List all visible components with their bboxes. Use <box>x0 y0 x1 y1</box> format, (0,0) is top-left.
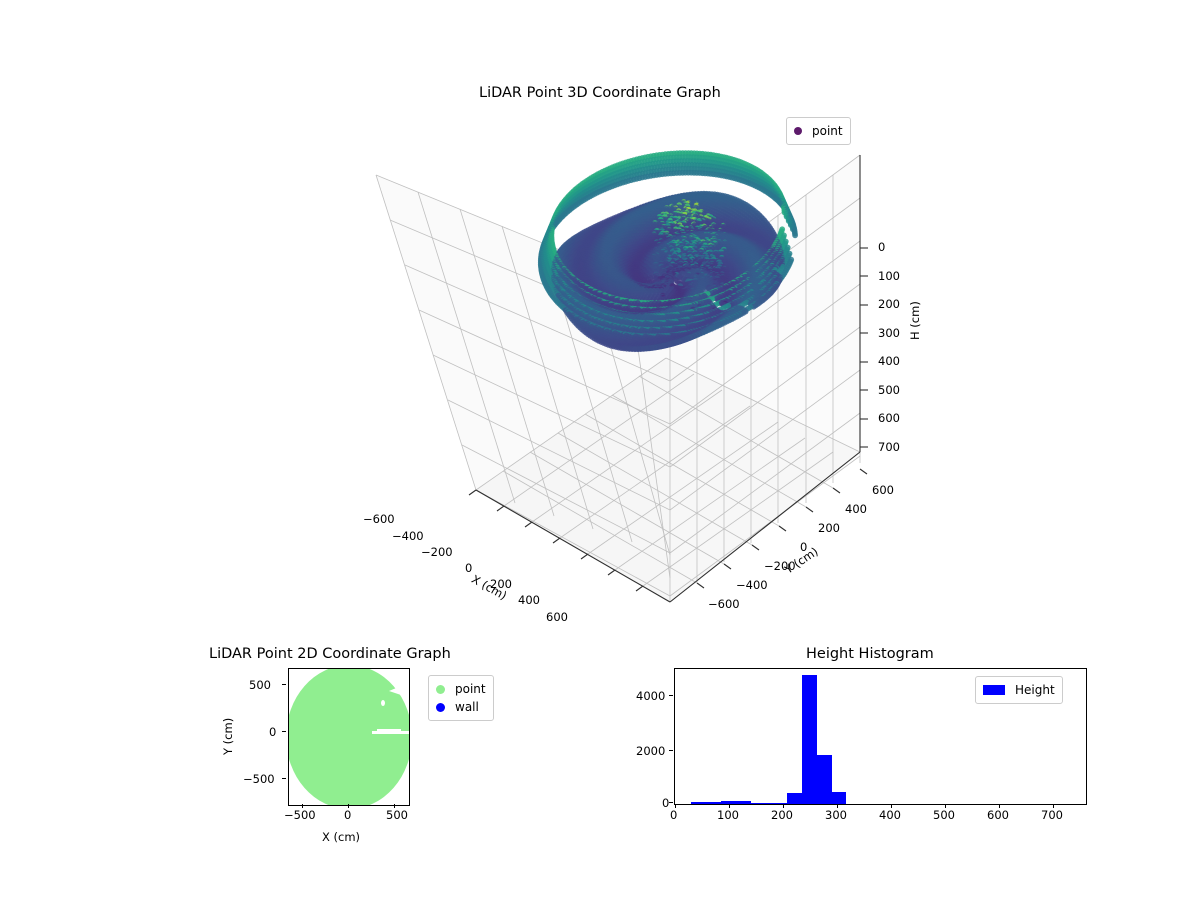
plot3d-ztick-5: 500 <box>878 383 900 397</box>
histogram-xtick-2: 200 <box>771 808 793 822</box>
histogram-xtick-4: 400 <box>879 808 901 822</box>
plot3d-ztick-3: 300 <box>878 326 900 340</box>
matplotlib-figure: LiDAR Point 3D Coordinate Graph point <box>0 0 1200 900</box>
histogram-bar <box>802 675 817 804</box>
plot2d-ytickmark-2 <box>282 778 286 779</box>
histogram-xtickmark-0 <box>675 804 676 808</box>
histogram-xtick-3: 300 <box>825 808 847 822</box>
histogram-ytickmark-1 <box>669 750 673 751</box>
histogram-bar <box>832 792 847 804</box>
wall-marker-icon <box>436 703 445 712</box>
plot3d-ztick-6: 600 <box>878 411 900 425</box>
histogram-bar <box>691 802 706 804</box>
plot3d-xtick-6: 600 <box>546 610 568 624</box>
histogram-bar <box>787 793 802 804</box>
plot3d-xtick-3: 0 <box>465 561 472 575</box>
plot2d-ytick-1: 0 <box>269 725 276 739</box>
plot2d-notch-upper <box>393 677 402 687</box>
plot3d-ztick-2: 200 <box>878 297 900 311</box>
histogram-ytick-2: 0 <box>662 796 669 810</box>
plot3d-ytick-6: 600 <box>872 483 894 497</box>
legend-item-point-2d: point <box>436 680 486 698</box>
legend-label-wall: wall <box>455 700 479 714</box>
histogram-ytickmark-0 <box>669 695 673 696</box>
histogram-xtickmark-4 <box>891 804 892 808</box>
histogram-xtickmark-3 <box>837 804 838 808</box>
plot3d-xtick-2: −200 <box>421 545 453 559</box>
histogram-xtickmark-5 <box>945 804 946 808</box>
plot2d-ytickmark-0 <box>282 684 286 685</box>
plot3d-ztick-4: 400 <box>878 354 900 368</box>
histogram-bar <box>706 802 721 804</box>
histogram-xtickmark-7 <box>1053 804 1054 808</box>
histogram-xtick-7: 700 <box>1041 808 1063 822</box>
plot2d-legend[interactable]: point wall <box>428 675 494 721</box>
plot2d-title: LiDAR Point 2D Coordinate Graph <box>209 646 451 662</box>
histogram-title: Height Histogram <box>806 646 934 662</box>
plot2d-point-cloud <box>288 668 410 806</box>
histogram-ytickmark-2 <box>669 802 673 803</box>
histogram-bar <box>765 803 780 804</box>
height-swatch-icon <box>983 685 1005 695</box>
histogram-xtick-6: 600 <box>987 808 1009 822</box>
histogram-xtick-5: 500 <box>933 808 955 822</box>
plot3d-ytick-1: −400 <box>736 578 768 592</box>
histogram-bar <box>736 801 751 804</box>
histogram-xtickmark-2 <box>783 804 784 808</box>
legend-label-point-2d: point <box>455 682 486 696</box>
histogram-ytick-0: 4000 <box>636 689 665 703</box>
plot3d-xtick-5: 400 <box>518 593 540 607</box>
plot2d-xaxis-label: X (cm) <box>322 830 360 844</box>
plot3d-ytick-4: 200 <box>818 521 840 535</box>
plot2d-notch-small <box>381 700 385 706</box>
plot2d-yaxis-label: Y (cm) <box>221 718 235 755</box>
legend-label-point: point <box>812 124 843 138</box>
legend-item-height: Height <box>983 681 1055 699</box>
point-marker-icon <box>436 685 445 694</box>
point-marker-icon <box>794 127 802 135</box>
legend-item-wall: wall <box>436 698 486 716</box>
plot3d-ztick-1: 100 <box>878 269 900 283</box>
plot2d-xtickmark-0 <box>302 804 303 808</box>
plot2d-xtick-1: 0 <box>344 808 351 822</box>
plot2d-ytickmark-1 <box>282 731 286 732</box>
plot2d-ytick-2: −500 <box>243 772 275 786</box>
plot2d-xtick-0: −500 <box>284 808 316 822</box>
histogram-bar <box>751 803 766 805</box>
plot2d-ytick-0: 500 <box>249 678 271 692</box>
plot3d-zaxis-label: H (cm) <box>908 301 922 340</box>
plot2d-xtickmark-2 <box>394 804 395 808</box>
plot3d-xtick-1: −400 <box>392 529 424 543</box>
plot3d-axes[interactable]: −600 −400 −200 0 200 400 600 −600 −400 −… <box>330 140 890 630</box>
histogram-xtick-1: 100 <box>717 808 739 822</box>
plot3d-xtick-0: −600 <box>363 512 395 526</box>
histogram-bar <box>817 755 832 804</box>
histogram-legend[interactable]: Height <box>975 676 1063 704</box>
plot3d-ytick-0: −600 <box>708 597 740 611</box>
plot3d-ytick-5: 400 <box>845 502 867 516</box>
plot2d-xtickmark-1 <box>348 804 349 808</box>
plot2d-xtick-2: 500 <box>386 808 408 822</box>
plot2d-axes[interactable] <box>288 668 410 806</box>
plot3d-ztick-0: 0 <box>878 240 885 254</box>
histogram-xtick-0: 0 <box>670 808 677 822</box>
plot3d-title: LiDAR Point 3D Coordinate Graph <box>479 85 721 101</box>
plot2d-gap-horizontal-2 <box>377 729 401 732</box>
legend-item-point: point <box>794 122 843 140</box>
legend-label-height: Height <box>1015 683 1055 697</box>
histogram-xtickmark-1 <box>729 804 730 808</box>
histogram-xtickmark-6 <box>999 804 1000 808</box>
plot3d-ztick-7: 700 <box>878 440 900 454</box>
histogram-ytick-1: 2000 <box>636 744 665 758</box>
